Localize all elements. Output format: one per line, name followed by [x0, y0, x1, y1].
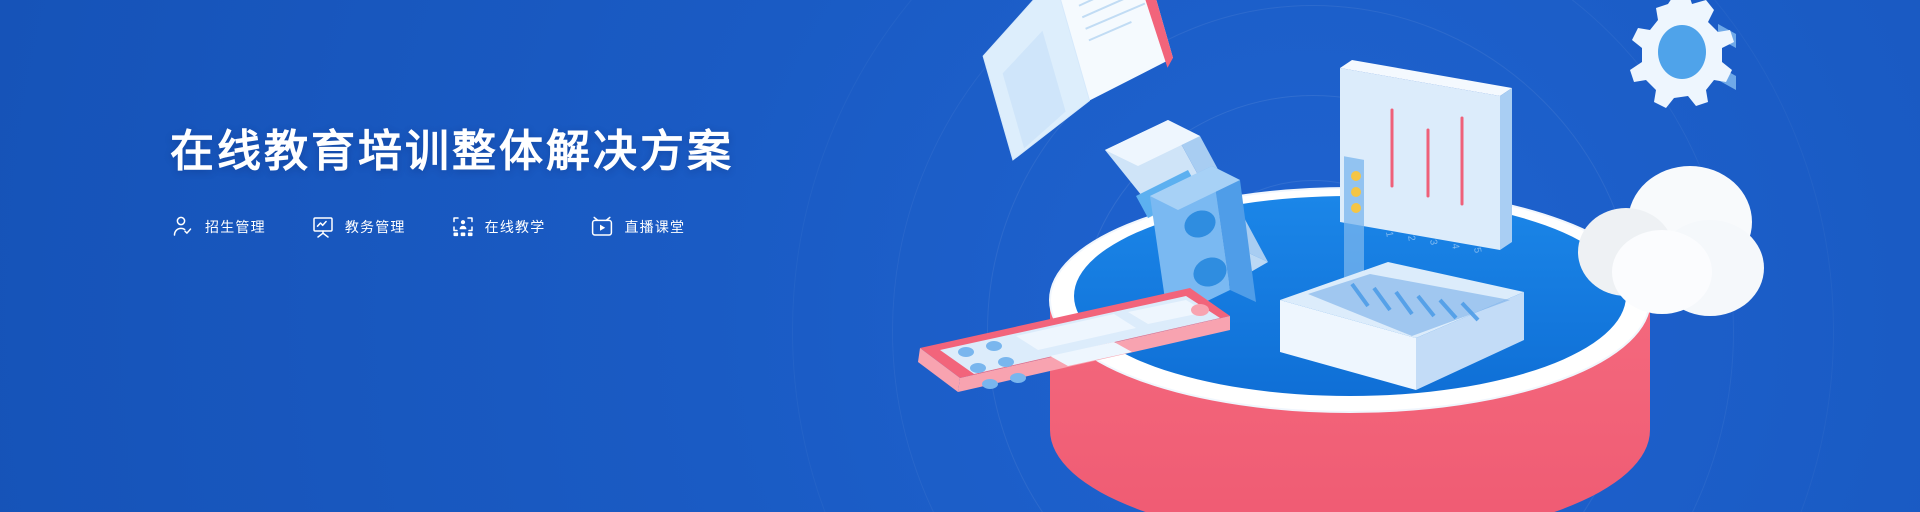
tv-play-icon [589, 214, 615, 240]
banner-copy: 在线教育培训整体解决方案 招生管理 [170, 128, 734, 240]
gear-icon [1630, 0, 1736, 108]
feature-item-academic-affairs[interactable]: 教务管理 [310, 214, 406, 240]
education-banner: 1 2 3 4 5 [0, 0, 1920, 512]
feature-label: 教务管理 [345, 217, 406, 237]
feature-item-online-teaching[interactable]: 在线教学 [450, 214, 546, 240]
feature-label: 直播课堂 [624, 217, 685, 237]
feature-item-live-classroom[interactable]: 直播课堂 [589, 214, 685, 240]
page-title: 在线教育培训整体解决方案 [170, 128, 734, 176]
presentation-chart-icon [310, 214, 336, 240]
user-check-icon [170, 214, 196, 240]
feature-label: 在线教学 [485, 217, 546, 237]
feature-list: 招生管理 教务管理 [170, 214, 734, 240]
feature-item-enrollment[interactable]: 招生管理 [170, 214, 266, 240]
classroom-teacher-icon [450, 214, 476, 240]
hero-illustration: 1 2 3 4 5 [900, 0, 1920, 512]
feature-label: 招生管理 [205, 217, 266, 237]
